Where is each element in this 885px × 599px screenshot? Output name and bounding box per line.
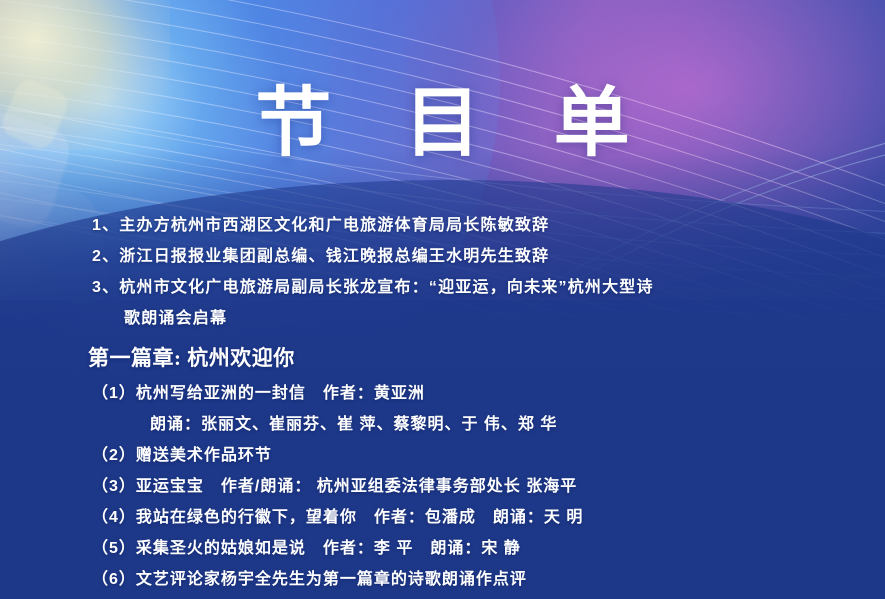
poster-stage: 节 目 单 1、主办方杭州市西湖区文化和广电旅游体育局局长陈敏致辞 2、浙江日报… (0, 0, 885, 599)
program-item-continuation: 朗诵：张丽文、崔丽芬、崔 萍、蔡黎明、于 伟、郑 华 (0, 409, 885, 440)
chapter-heading: 第一篇章: 杭州欢迎你 (0, 338, 885, 378)
program-list: 1、主办方杭州市西湖区文化和广电旅游体育局局长陈敏致辞 2、浙江日报报业集团副总… (0, 210, 885, 595)
page-title: 节 目 单 (0, 86, 885, 162)
program-item: （4）我站在绿色的行徽下，望着你 作者：包潘成 朗诵：天 明 (0, 502, 885, 533)
poster-content: 节 目 单 1、主办方杭州市西湖区文化和广电旅游体育局局长陈敏致辞 2、浙江日报… (0, 0, 885, 599)
program-item: （6）文艺评论家杨宇全先生为第一篇章的诗歌朗诵作点评 (0, 564, 885, 595)
agenda-item: 2、浙江日报报业集团副总编、钱江晚报总编王水明先生致辞 (0, 241, 885, 272)
agenda-item-continuation: 歌朗诵会启幕 (0, 303, 885, 334)
program-item: （5）采集圣火的姑娘如是说 作者：李 平 朗诵：宋 静 (0, 533, 885, 564)
agenda-item: 3、杭州市文化广电旅游局副局长张龙宣布：“迎亚运，向未来”杭州大型诗 (0, 272, 885, 303)
agenda-item: 1、主办方杭州市西湖区文化和广电旅游体育局局长陈敏致辞 (0, 210, 885, 241)
program-item: （1）杭州写给亚洲的一封信 作者：黄亚洲 (0, 378, 885, 409)
program-item: （3）亚运宝宝 作者/朗诵： 杭州亚组委法律事务部处长 张海平 (0, 471, 885, 502)
program-item: （2）赠送美术作品环节 (0, 440, 885, 471)
